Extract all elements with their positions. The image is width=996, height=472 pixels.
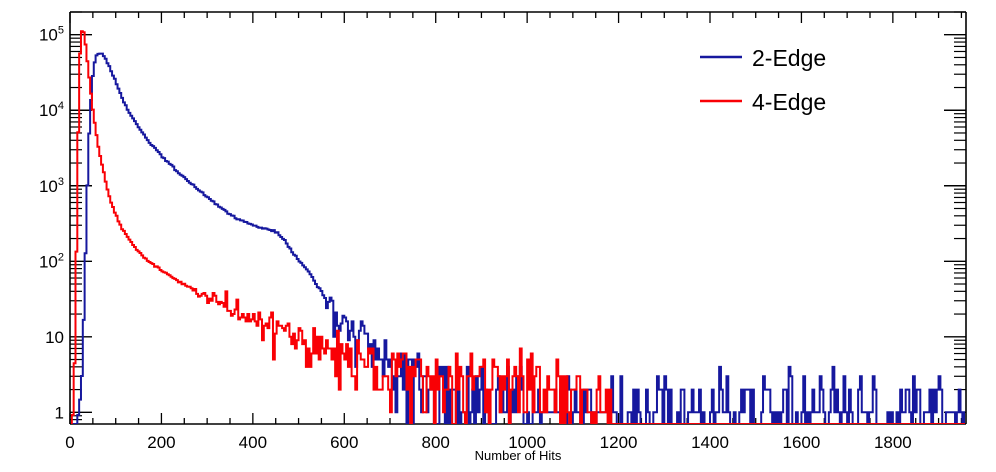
legend-label-2-edge: 2-Edge — [752, 45, 826, 71]
x-tick-label: 200 — [147, 433, 175, 452]
y-tick-label: 1 — [55, 403, 64, 422]
histogram-plot: 110102103104105 020040060080010001200140… — [0, 0, 996, 472]
x-axis-ticks — [70, 12, 961, 424]
chart-legend: 2-Edge4-Edge — [700, 45, 826, 115]
plot-frame — [70, 12, 966, 424]
legend-label-4-edge: 4-Edge — [752, 89, 826, 115]
x-tick-label: 1800 — [874, 433, 912, 452]
x-tick-label: 1200 — [600, 433, 638, 452]
data-series-layer — [70, 31, 966, 424]
series-2-edge — [70, 54, 966, 424]
y-tick-label: 10 — [45, 328, 64, 347]
x-tick-label: 1400 — [691, 433, 729, 452]
x-tick-label: 1600 — [783, 433, 821, 452]
y-tick-label: 102 — [39, 251, 64, 271]
y-tick-label: 104 — [39, 100, 64, 120]
y-axis-tick-labels: 110102103104105 — [39, 25, 64, 423]
x-tick-label: 0 — [65, 433, 74, 452]
y-tick-label: 105 — [39, 25, 64, 45]
x-axis-title: Number of Hits — [475, 448, 562, 463]
chart-canvas: 110102103104105 020040060080010001200140… — [0, 0, 996, 472]
y-axis-ticks — [70, 12, 966, 420]
x-tick-label: 800 — [422, 433, 450, 452]
series-4-edge — [70, 31, 966, 424]
x-tick-label: 400 — [239, 433, 267, 452]
y-tick-label: 103 — [39, 176, 64, 196]
x-tick-label: 600 — [330, 433, 358, 452]
